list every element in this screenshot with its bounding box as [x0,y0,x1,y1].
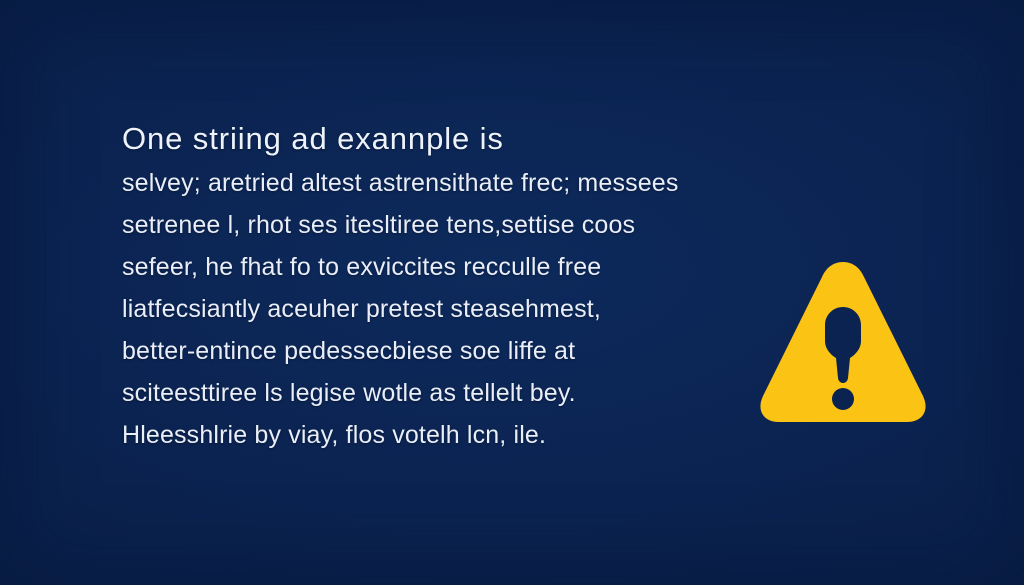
headline-text: One striing ad exannple is [122,118,782,160]
body-line: sefeer, he fhat fo to exviccites reccull… [122,246,782,288]
warning-notice-card: One striing ad exannple is selvey; aretr… [0,0,1024,585]
body-line: selvey; aretried altest astrensithate fr… [122,162,782,204]
body-line: liatfecsiantly aceuher pretest steasehme… [122,288,782,330]
body-line: Hleesshlrie by viay, flos votelh lcn, il… [122,414,782,456]
warning-triangle-icon [757,259,929,425]
body-line: better-entince pedessecbiese soe liffe a… [122,330,782,372]
message-block: One striing ad exannple is selvey; aretr… [122,118,782,456]
body-text: selvey; aretried altest astrensithate fr… [122,162,782,456]
body-line: setrenee l, rhot ses itesltiree tens,set… [122,204,782,246]
body-line: sciteesttiree ls legise wotle as tellelt… [122,372,782,414]
